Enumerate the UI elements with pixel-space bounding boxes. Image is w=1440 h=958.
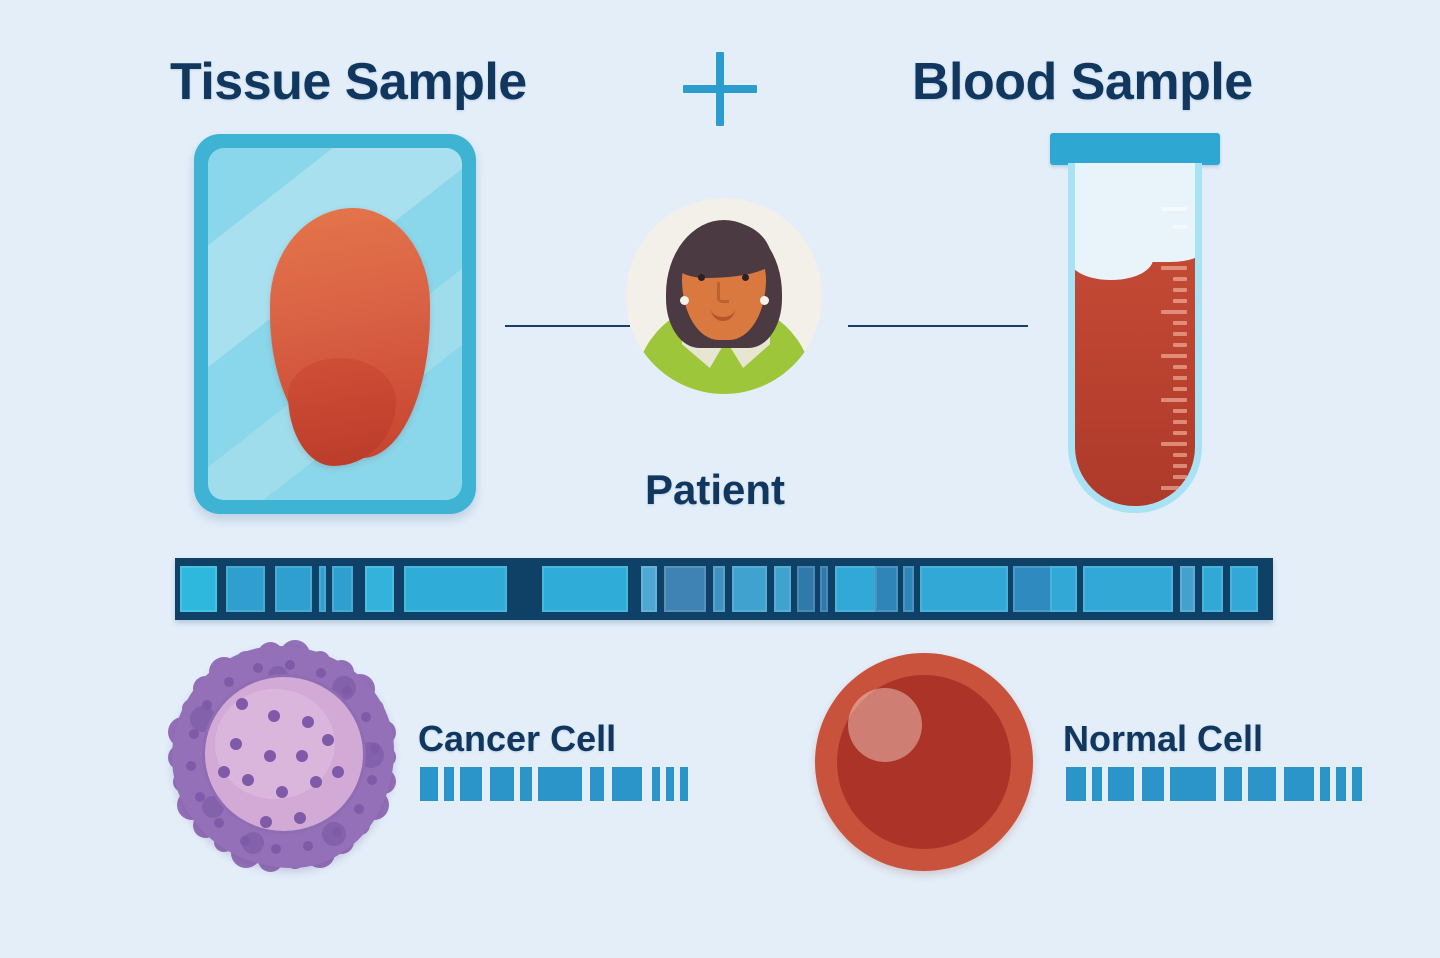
membrane-speckle [271,844,281,854]
sequence-bar [365,566,393,612]
barcode-bar [1336,767,1346,801]
graduation-tick [1173,299,1187,303]
tube-glass [1068,163,1202,513]
illustration-canvas: Tissue Sample Blood Sample Patient [0,0,1440,958]
graduation-tick [1161,442,1187,446]
avatar-eye-right [742,274,749,281]
patient-avatar-icon [626,198,822,394]
avatar-earring-left [680,296,689,305]
barcode-bar [444,767,454,801]
nucleus-dot [302,716,314,728]
barcode-bar [1066,767,1086,801]
barcode-bar [490,767,514,801]
barcode-bar [1224,767,1242,801]
nucleus-dot [218,766,230,778]
sequence-bar [332,566,354,612]
sequence-bar [1050,566,1077,612]
graduation-tick [1173,464,1187,468]
nucleus-dot [332,766,344,778]
test-tube-icon [1052,133,1218,515]
sequence-bar [542,566,628,612]
graduation-tick [1173,431,1187,435]
membrane-speckle [332,827,342,837]
sequence-bar [226,566,265,612]
barcode-bar [1170,767,1216,801]
graduation-tick [1173,225,1187,229]
normal-cell-barcode [1066,767,1362,801]
sequence-bar [664,566,706,612]
sequence-bar [903,566,914,612]
graduation-tick [1161,310,1187,314]
graduation-tick [1173,343,1187,347]
patient-label: Patient [645,466,785,514]
avatar-nose [717,282,729,303]
graduation-tick [1173,409,1187,413]
sequence-bar [275,566,313,612]
nucleus-dot [236,698,248,710]
graduation-tick [1173,453,1187,457]
sequence-bar [713,566,725,612]
barcode-bar [1092,767,1102,801]
graduation-tick [1161,207,1187,211]
membrane-speckle [195,792,205,802]
membrane-speckle [240,836,250,846]
barcode-bar [680,767,688,801]
normal-cell-icon [815,653,1033,871]
nucleus-dot [260,816,272,828]
nucleus-dot [230,738,242,750]
membrane-speckle [367,775,377,785]
cancer-cell-label: Cancer Cell [418,718,616,760]
nucleus-dot [268,710,280,722]
graduation-tick [1173,497,1187,501]
sequence-bar [404,566,508,612]
nucleus-dot [264,750,276,762]
membrane-speckle [316,668,326,678]
tumor-tissue-shape [270,208,430,458]
nucleus-dot [294,812,306,824]
plus-icon [683,52,757,126]
sequence-bar [797,566,814,612]
cancer-cell-barcode [420,767,688,801]
membrane-speckle [214,818,224,828]
graduation-tick [1161,398,1187,402]
nucleus-dot [242,774,254,786]
sequence-bar [1180,566,1195,612]
barcode-bar [590,767,604,801]
connector-line-left [505,325,630,327]
graduation-tick [1173,332,1187,336]
barcode-bar [612,767,642,801]
slide-glass [208,148,462,500]
sequence-bar [1013,566,1052,612]
sequence-bar [875,566,898,612]
microscope-slide-icon [194,134,476,514]
barcode-bar [1320,767,1330,801]
graduation-tick [1173,387,1187,391]
nucleus-dot [322,734,334,746]
graduation-tick [1173,288,1187,292]
barcode-bar [420,767,438,801]
tube-graduation-marks-lower [1145,252,1187,502]
tissue-sample-title: Tissue Sample [170,52,527,112]
sequence-bar [820,566,828,612]
membrane-speckle [370,743,380,753]
graduation-tick [1173,321,1187,325]
graduation-tick [1161,266,1187,270]
graduation-tick [1173,376,1187,380]
graduation-tick [1173,420,1187,424]
barcode-bar [538,767,582,801]
sequence-bar [641,566,657,612]
sequence-bar [774,566,790,612]
graduation-tick [1173,365,1187,369]
barcode-bar [1248,767,1276,801]
graduation-tick [1161,486,1187,490]
nucleus-dot [296,750,308,762]
cancer-cell-nucleus [202,674,366,834]
nucleus-dot [310,776,322,788]
sequence-bar [1083,566,1173,612]
membrane-speckle [354,804,364,814]
barcode-bar [460,767,482,801]
normal-cell-label: Normal Cell [1063,718,1263,760]
blood-sample-title: Blood Sample [912,52,1253,112]
avatar-earring-right [760,296,769,305]
sequence-bar [732,566,767,612]
tube-cap [1050,133,1220,165]
barcode-bar [666,767,674,801]
sequence-bar [180,566,216,612]
sequence-bar [1202,566,1222,612]
barcode-bar [520,767,532,801]
cancer-cell-icon [172,646,394,868]
sequence-bar [1230,566,1258,612]
barcode-bar [1142,767,1164,801]
sequence-bar [920,566,1007,612]
normal-cell-highlight [848,688,922,762]
sequence-bar [319,566,326,612]
graduation-tick [1173,475,1187,479]
membrane-speckle [303,841,313,851]
graduation-tick [1173,277,1187,281]
barcode-bar [1108,767,1134,801]
nucleus-dot [276,786,288,798]
membrane-speckle [361,712,371,722]
barcode-bar [652,767,660,801]
avatar-eye-left [698,274,705,281]
dna-sequence-barcode [175,558,1273,620]
graduation-tick [1161,354,1187,358]
blood-fill [1075,258,1195,506]
barcode-bar [1284,767,1314,801]
connector-line-right [848,325,1028,327]
barcode-bar [1352,767,1362,801]
